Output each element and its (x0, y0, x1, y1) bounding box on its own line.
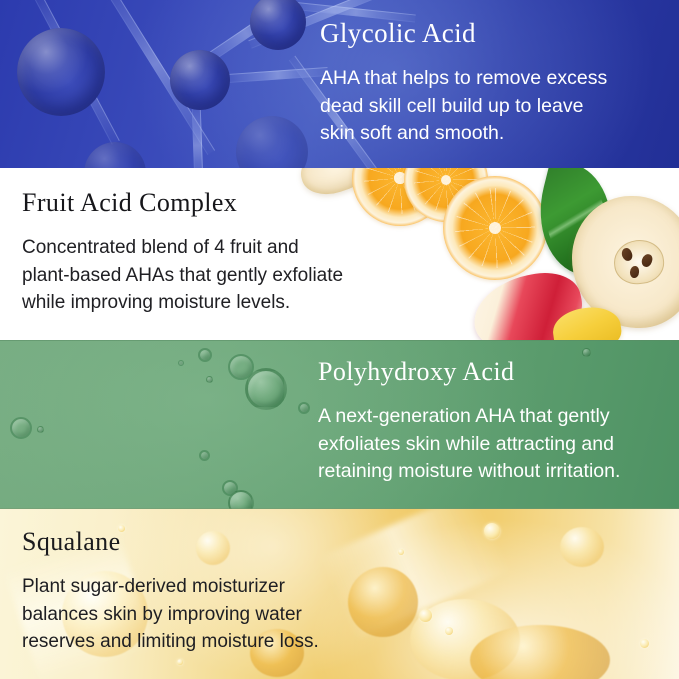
panel-squalane-content: Squalane Plant sugar-derived moisturizer… (0, 509, 679, 679)
body-glycolic-acid: AHA that helps to remove excess dead ski… (320, 65, 607, 148)
body-fruit-acid-complex: Concentrated blend of 4 fruit and plant-… (22, 234, 343, 317)
body-line: reserves and limiting moisture loss. (22, 628, 319, 656)
ingredient-benefits-infographic: Glycolic Acid AHA that helps to remove e… (0, 0, 679, 679)
panel-squalane: Squalane Plant sugar-derived moisturizer… (0, 509, 679, 679)
panel-polyhydroxy-acid: Polyhydroxy Acid A next-generation AHA t… (0, 340, 679, 509)
body-line: balances skin by improving water (22, 601, 319, 629)
body-squalane: Plant sugar-derived moisturizer balances… (22, 573, 319, 656)
panel-fruit-content: Fruit Acid Complex Concentrated blend of… (0, 168, 679, 340)
heading-fruit-acid-complex: Fruit Acid Complex (22, 188, 237, 218)
body-line: Concentrated blend of 4 fruit and (22, 234, 343, 262)
panel-glycolic-content: Glycolic Acid AHA that helps to remove e… (0, 0, 679, 168)
body-line: A next-generation AHA that gently (318, 403, 620, 431)
panel-divider (0, 508, 679, 509)
panel-fruit-acid-complex: Fruit Acid Complex Concentrated blend of… (0, 168, 679, 340)
body-line: AHA that helps to remove excess (320, 65, 607, 93)
heading-glycolic-acid: Glycolic Acid (320, 18, 476, 49)
body-line: exfoliates skin while attracting and (318, 431, 620, 459)
panel-polyhydroxy-content: Polyhydroxy Acid A next-generation AHA t… (0, 340, 679, 509)
body-line: plant-based AHAs that gently exfoliate (22, 262, 343, 290)
heading-polyhydroxy-acid: Polyhydroxy Acid (318, 357, 514, 387)
body-line: Plant sugar-derived moisturizer (22, 573, 319, 601)
body-line: skin soft and smooth. (320, 120, 607, 148)
body-polyhydroxy-acid: A next-generation AHA that gently exfoli… (318, 403, 620, 486)
body-line: while improving moisture levels. (22, 289, 343, 317)
heading-squalane: Squalane (22, 527, 121, 557)
body-line: retaining moisture without irritation. (318, 458, 620, 486)
panel-glycolic-acid: Glycolic Acid AHA that helps to remove e… (0, 0, 679, 168)
panel-divider (0, 340, 679, 341)
body-line: dead skill cell build up to leave (320, 93, 607, 121)
